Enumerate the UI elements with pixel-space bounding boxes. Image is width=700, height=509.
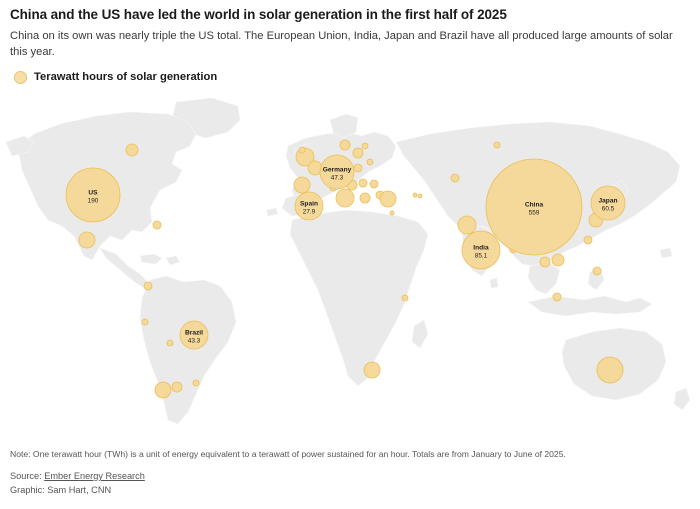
chart-footer: Note: One terawatt hour (TWh) is a unit … xyxy=(0,448,700,498)
bubble-label-value: 85.1 xyxy=(475,253,488,260)
bubble-label-value: 60.5 xyxy=(602,206,615,213)
legend: Terawatt hours of solar generation xyxy=(14,71,690,84)
map-bubble[interactable] xyxy=(552,254,564,266)
footnote: Note: One terawatt hour (TWh) is a unit … xyxy=(10,448,690,460)
bubble-label-name: US xyxy=(88,190,98,197)
bubble-label-name: Spain xyxy=(300,201,318,208)
bubble-label-name: China xyxy=(525,202,544,209)
map-bubble[interactable] xyxy=(193,380,199,386)
map-bubble[interactable] xyxy=(494,142,500,148)
graphic-credit: Graphic: Sam Hart, CNN xyxy=(10,484,690,498)
map-bubble[interactable] xyxy=(126,144,138,156)
bubble-label-value: 27.9 xyxy=(303,209,316,216)
legend-label: Terawatt hours of solar generation xyxy=(34,72,217,83)
map-bubble[interactable] xyxy=(584,236,592,244)
bubble-label-value: 559 xyxy=(529,210,540,217)
map-bubble[interactable] xyxy=(458,216,476,234)
map-bubble[interactable] xyxy=(362,143,368,149)
map-bubble[interactable] xyxy=(336,189,354,207)
map-bubble[interactable] xyxy=(390,211,394,215)
map-bubble[interactable] xyxy=(354,164,362,172)
map-bubble[interactable] xyxy=(413,193,417,197)
circle-icon xyxy=(14,71,27,84)
world-map: China559US190India85.1Japan60.5Germany47… xyxy=(0,90,700,440)
bubble-label-name: Japan xyxy=(598,198,617,205)
map-bubble[interactable] xyxy=(380,191,396,207)
source-line: Source: Ember Energy Research xyxy=(10,470,690,484)
map-bubble[interactable] xyxy=(553,293,561,301)
map-bubble[interactable] xyxy=(340,140,350,150)
map-bubble[interactable] xyxy=(294,177,310,193)
bubble-label-value: 47.3 xyxy=(331,175,344,182)
map-bubble[interactable] xyxy=(402,295,408,301)
source-link[interactable]: Ember Energy Research xyxy=(44,471,145,481)
page-subtitle: China on its own was nearly triple the U… xyxy=(10,28,686,60)
map-bubble[interactable] xyxy=(593,267,601,275)
source-prefix: Source: xyxy=(10,471,44,481)
map-bubble[interactable] xyxy=(364,362,380,378)
map-svg: China559US190India85.1Japan60.5Germany47… xyxy=(0,90,700,440)
map-bubble[interactable] xyxy=(144,282,152,290)
map-bubble[interactable] xyxy=(167,340,173,346)
map-bubble[interactable] xyxy=(370,180,378,188)
bubble-label-name: Germany xyxy=(323,167,352,174)
map-bubble[interactable] xyxy=(155,382,171,398)
bubble-label-name: India xyxy=(473,245,489,252)
map-bubble[interactable] xyxy=(299,147,305,153)
map-bubble[interactable] xyxy=(451,174,459,182)
bubble-label-value: 43.3 xyxy=(188,338,201,345)
map-bubble[interactable] xyxy=(353,148,363,158)
page-title: China and the US have led the world in s… xyxy=(10,6,690,24)
map-bubble[interactable] xyxy=(172,382,182,392)
chart-header: China and the US have led the world in s… xyxy=(0,0,700,84)
map-bubble[interactable] xyxy=(540,257,550,267)
map-bubble[interactable] xyxy=(153,221,161,229)
map-bubble[interactable] xyxy=(360,193,370,203)
map-bubble[interactable] xyxy=(359,179,367,187)
map-bubble[interactable] xyxy=(597,357,623,383)
map-bubble[interactable] xyxy=(79,232,95,248)
map-bubble[interactable] xyxy=(142,319,148,325)
bubble-label-name: Brazil xyxy=(185,330,203,337)
map-bubble[interactable] xyxy=(418,194,422,198)
solar-generation-bubble-map: China and the US have led the world in s… xyxy=(0,0,700,509)
bubble-label-value: 190 xyxy=(88,198,99,205)
map-bubble[interactable] xyxy=(367,159,373,165)
